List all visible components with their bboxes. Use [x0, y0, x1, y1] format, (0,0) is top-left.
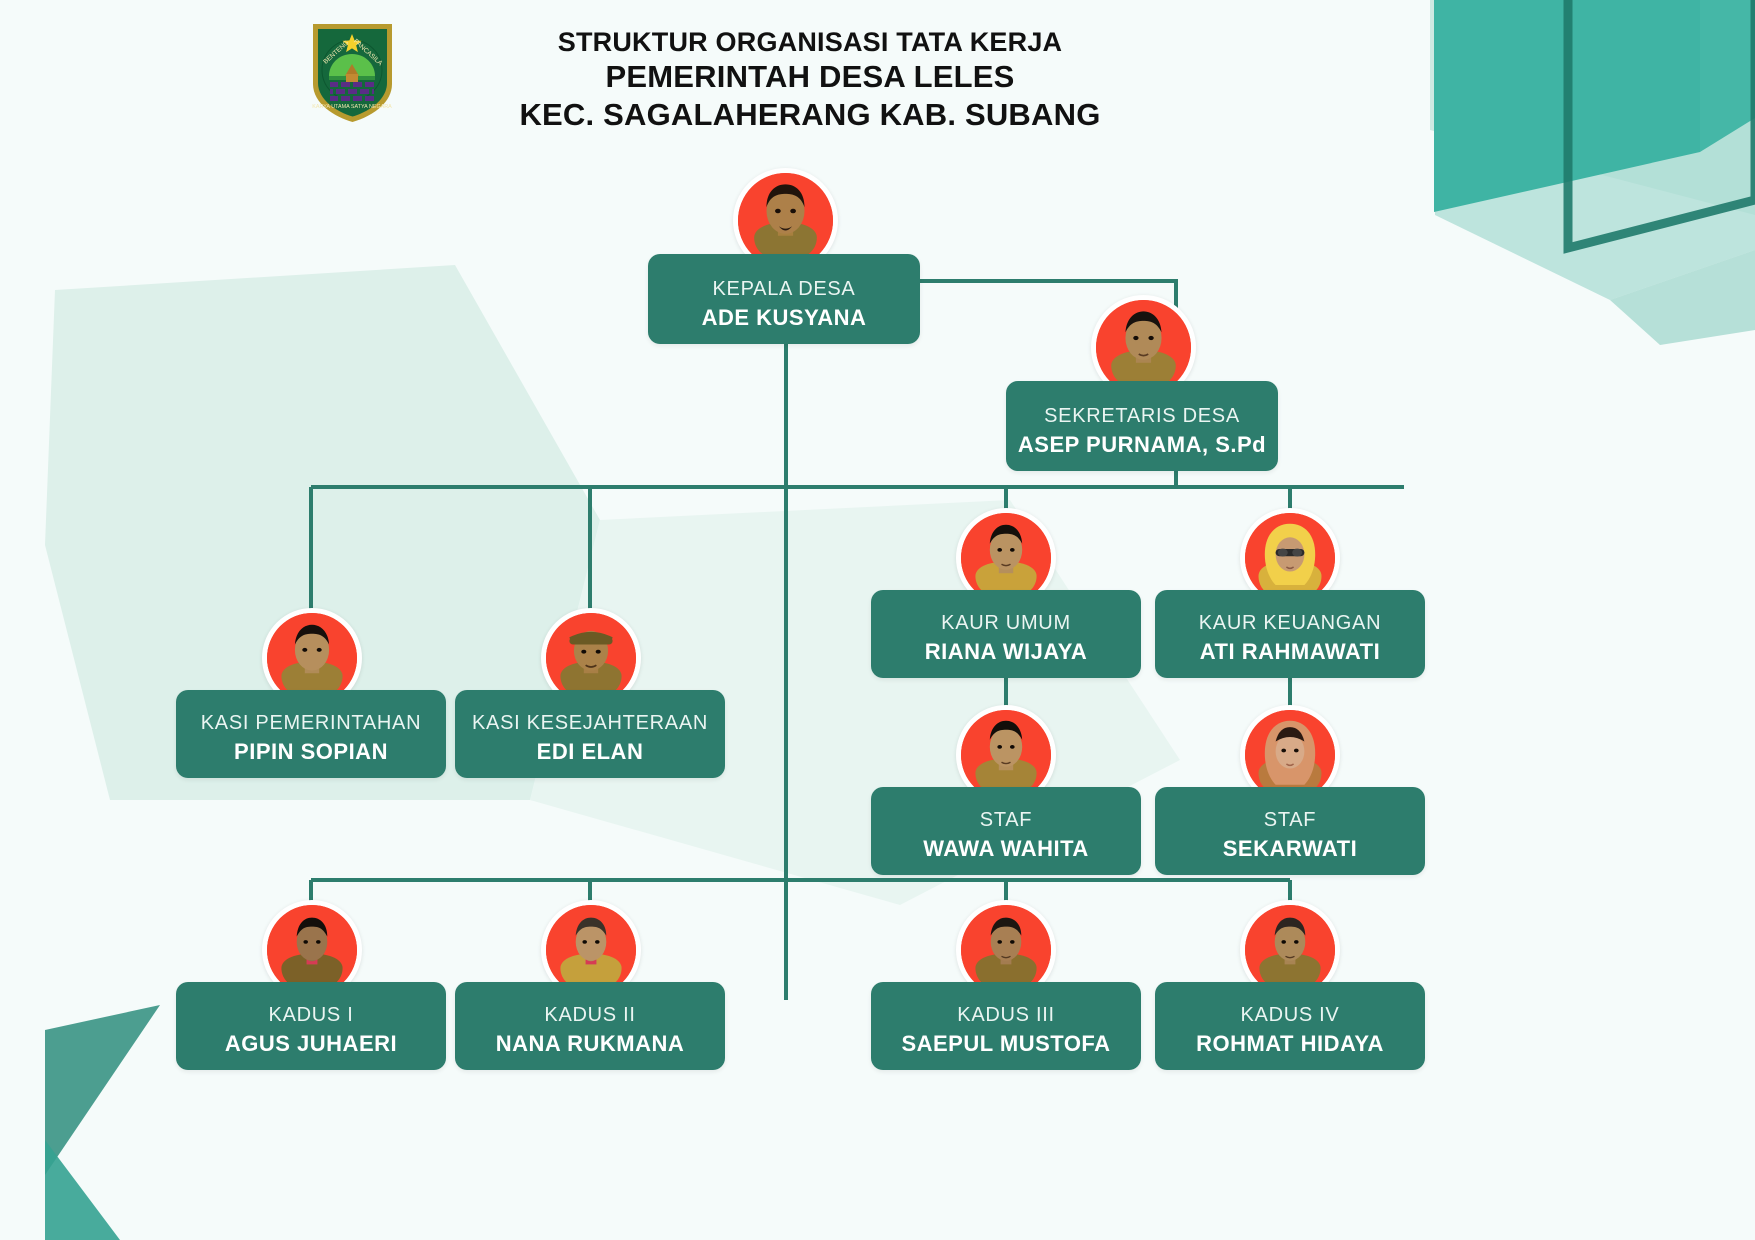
card-kadus-4[interactable]: KADUS IV ROHMAT HIDAYA: [1155, 982, 1425, 1070]
role-label-sekretaris-desa: SEKRETARIS DESA: [1044, 406, 1240, 427]
card-kepala-desa[interactable]: KEPALA DESA ADE KUSYANA: [648, 254, 920, 344]
role-label-kadus-3: KADUS III: [957, 1005, 1054, 1026]
role-label-kadus-4: KADUS IV: [1241, 1005, 1340, 1026]
role-label-kasi-kesejahteraan: KASI KESEJAHTERAAN: [472, 713, 708, 734]
role-label-kadus-1: KADUS I: [269, 1005, 354, 1026]
role-label-kaur-umum: KAUR UMUM: [941, 613, 1071, 634]
person-name-kadus-2: NANA RUKMANA: [496, 1031, 685, 1056]
card-sekretaris-desa[interactable]: SEKRETARIS DESA ASEP PURNAMA, S.Pd: [1006, 381, 1278, 471]
kabupaten-subang-shield-logo: BENTENG PANCASILA KARYA UTAMA SATYA NEGA…: [305, 18, 400, 123]
person-name-kaur-umum: RIANA WIJAYA: [925, 639, 1087, 664]
person-name-kadus-4: ROHMAT HIDAYA: [1196, 1031, 1384, 1056]
page-header: BENTENG PANCASILA KARYA UTAMA SATYA NEGA…: [0, 0, 1755, 140]
card-kadus-3[interactable]: KADUS III SAEPUL MUSTOFA: [871, 982, 1141, 1070]
role-label-kaur-keuangan: KAUR KEUANGAN: [1199, 613, 1381, 634]
card-kadus-2[interactable]: KADUS II NANA RUKMANA: [455, 982, 725, 1070]
role-label-staf-wawa-wahita: STAF: [980, 810, 1032, 831]
person-name-staf-sekarwati: SEKARWATI: [1223, 836, 1357, 861]
card-kadus-1[interactable]: KADUS I AGUS JUHAERI: [176, 982, 446, 1070]
card-kasi-pemerintahan[interactable]: KASI PEMERINTAHAN PIPIN SOPIAN: [176, 690, 446, 778]
person-name-kasi-kesejahteraan: EDI ELAN: [537, 739, 644, 764]
person-name-kepala-desa: ADE KUSYANA: [702, 305, 867, 330]
card-kaur-keuangan[interactable]: KAUR KEUANGAN ATI RAHMAWATI: [1155, 590, 1425, 678]
person-name-kaur-keuangan: ATI RAHMAWATI: [1200, 639, 1380, 664]
title-line-3: KEC. SAGALAHERANG KAB. SUBANG: [440, 96, 1180, 133]
svg-text:KARYA UTAMA SATYA NEGARA: KARYA UTAMA SATYA NEGARA: [312, 104, 392, 110]
role-label-kasi-pemerintahan: KASI PEMERINTAHAN: [201, 713, 421, 734]
person-name-kasi-pemerintahan: PIPIN SOPIAN: [234, 739, 388, 764]
title-line-2: PEMERINTAH DESA LELES: [440, 58, 1180, 95]
person-name-kadus-1: AGUS JUHAERI: [225, 1031, 397, 1056]
title-line-1: STRUKTUR ORGANISASI TATA KERJA: [440, 26, 1180, 58]
person-name-staf-wawa-wahita: WAWA WAHITA: [923, 836, 1089, 861]
card-kasi-kesejahteraan[interactable]: KASI KESEJAHTERAAN EDI ELAN: [455, 690, 725, 778]
card-kaur-umum[interactable]: KAUR UMUM RIANA WIJAYA: [871, 590, 1141, 678]
shield-logo-icon: BENTENG PANCASILA KARYA UTAMA SATYA NEGA…: [305, 18, 400, 123]
person-name-kadus-3: SAEPUL MUSTOFA: [901, 1031, 1110, 1056]
role-label-kadus-2: KADUS II: [544, 1005, 635, 1026]
person-name-sekretaris-desa: ASEP PURNAMA, S.Pd: [1018, 432, 1266, 457]
page-title: STRUKTUR ORGANISASI TATA KERJA PEMERINTA…: [440, 26, 1180, 133]
role-label-kepala-desa: KEPALA DESA: [713, 279, 856, 300]
role-label-staf-sekarwati: STAF: [1264, 810, 1316, 831]
card-staf-sekarwati[interactable]: STAF SEKARWATI: [1155, 787, 1425, 875]
card-staf-wawa-wahita[interactable]: STAF WAWA WAHITA: [871, 787, 1141, 875]
